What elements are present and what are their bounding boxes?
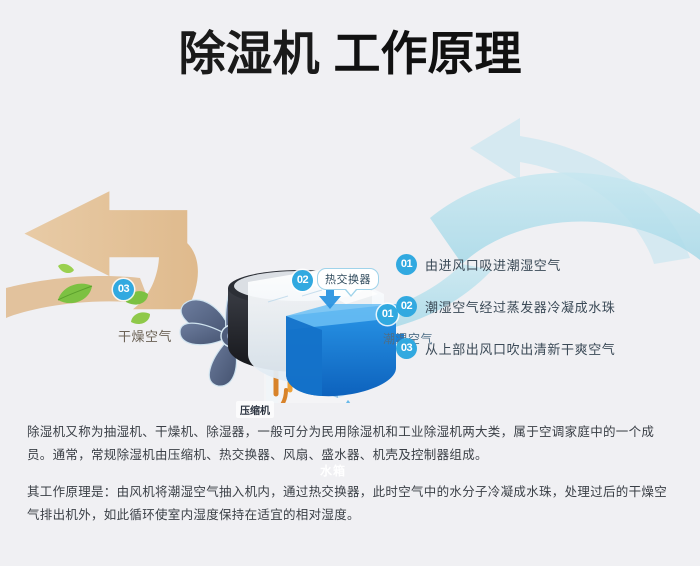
legend-item-02: 02 潮湿空气经过蒸发器冷凝成水珠 bbox=[396, 295, 686, 317]
diagram-badge-02: 02 bbox=[292, 270, 313, 291]
legend-badge-02: 02 bbox=[396, 296, 417, 317]
title-part-1: 除湿机 bbox=[179, 27, 320, 80]
diagram-badge-03: 03 bbox=[113, 279, 134, 300]
legend-item-01: 01 由进风口吸进潮湿空气 bbox=[396, 253, 686, 275]
legend-badge-01: 01 bbox=[396, 254, 417, 275]
description-block: 除湿机又称为抽湿机、干燥机、除湿器，一般可分为民用除湿机和工业除湿机两大类，属于… bbox=[27, 421, 677, 527]
legend-item-03: 03 从上部出风口吹出清新干爽空气 bbox=[396, 337, 686, 359]
label-heat-exchanger: 热交换器 bbox=[317, 268, 379, 290]
title-part-2: 工作原理 bbox=[334, 27, 522, 80]
diagram-badge-01: 01 bbox=[377, 304, 398, 325]
page-title: 除湿机工作原理 bbox=[0, 30, 700, 77]
legend-text-01: 由进风口吸进潮湿空气 bbox=[425, 255, 561, 274]
dry-air-arrow bbox=[6, 191, 198, 318]
description-paragraph-2: 其工作原理是：由风机将潮湿空气抽入机内，通过热交换器，此时空气中的水分子冷凝成水… bbox=[27, 481, 677, 527]
legend-text-02: 潮湿空气经过蒸发器冷凝成水珠 bbox=[425, 297, 615, 316]
label-compressor: 压缩机 bbox=[236, 401, 274, 418]
legend-badge-03: 03 bbox=[396, 338, 417, 359]
description-paragraph-1: 除湿机又称为抽湿机、干燥机、除湿器，一般可分为民用除湿机和工业除湿机两大类，属于… bbox=[27, 421, 677, 467]
step-legend: 01 由进风口吸进潮湿空气 02 潮湿空气经过蒸发器冷凝成水珠 03 从上部出风… bbox=[396, 253, 686, 379]
legend-text-03: 从上部出风口吹出清新干爽空气 bbox=[425, 339, 615, 358]
label-dry-air: 干燥空气 bbox=[118, 326, 172, 345]
